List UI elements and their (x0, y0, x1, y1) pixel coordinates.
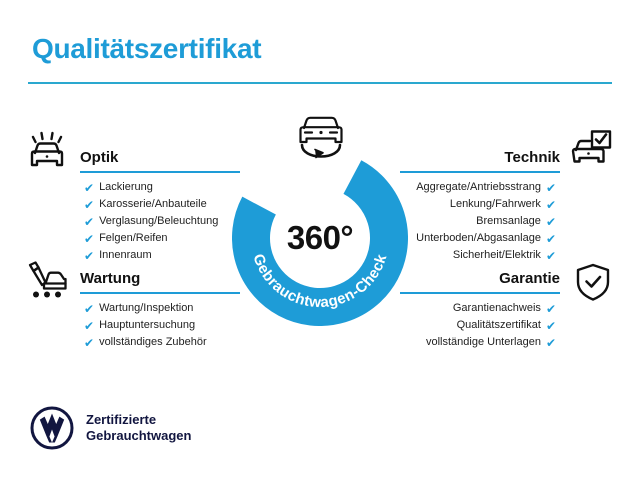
list-item-label: Sicherheit/Elektrik (453, 247, 541, 264)
check-icon: ✔ (84, 233, 94, 245)
list-item: ✔Innenraum (84, 247, 240, 264)
section-wartung-underline (80, 292, 240, 294)
list-item-label: Innenraum (99, 247, 152, 264)
list-item: Aggregate/Antriebsstrang✔ (400, 179, 556, 196)
list-item: ✔Felgen/Reifen (84, 230, 240, 247)
section-garantie: Garantie Garantienachweis✔ Qualitätszert… (400, 264, 560, 351)
check-icon: ✔ (546, 303, 556, 315)
list-item-label: Karosserie/Anbauteile (99, 196, 207, 213)
list-item-label: Lackierung (99, 179, 153, 196)
list-item: ✔Wartung/Inspektion (84, 300, 240, 317)
list-item: ✔Hauptuntersuchung (84, 317, 240, 334)
section-garantie-title: Garantie (499, 270, 560, 287)
section-technik-underline (400, 171, 560, 173)
list-item: Garantienachweis✔ (400, 300, 556, 317)
section-garantie-underline (400, 292, 560, 294)
section-technik-header: Technik (400, 143, 560, 173)
list-item-label: Wartung/Inspektion (99, 300, 193, 317)
car-checkbox-icon (568, 128, 614, 172)
section-garantie-list: Garantienachweis✔ Qualitätszertifikat✔ v… (400, 300, 560, 351)
section-optik-title: Optik (80, 149, 118, 166)
list-item: Qualitätszertifikat✔ (400, 317, 556, 334)
section-technik-list: Aggregate/Antriebsstrang✔ Lenkung/Fahrwe… (400, 179, 560, 264)
page-title: Qualitätszertifikat (32, 33, 261, 65)
check-icon: ✔ (546, 199, 556, 211)
footer-line-2: Gebrauchtwagen (86, 428, 191, 443)
section-wartung-list: ✔Wartung/Inspektion ✔Hauptuntersuchung ✔… (80, 300, 240, 351)
badge-ring: Gebrauchtwagen-Check (232, 150, 408, 326)
section-optik-list: ✔Lackierung ✔Karosserie/Anbauteile ✔Verg… (80, 179, 240, 264)
check-icon: ✔ (546, 216, 556, 228)
title-divider (28, 82, 612, 84)
wrench-car-icon (24, 258, 70, 302)
section-wartung-title: Wartung (80, 270, 140, 287)
footer-text: ZertifizierteGebrauchtwagen (86, 412, 191, 444)
list-item-label: Garantienachweis (453, 300, 541, 317)
check-icon: ✔ (546, 337, 556, 349)
list-item-label: Felgen/Reifen (99, 230, 168, 247)
vw-logo-icon (30, 406, 74, 450)
badge-360-check: Gebrauchtwagen-Check 360° (232, 150, 408, 326)
check-icon: ✔ (84, 216, 94, 228)
list-item: vollständige Unterlagen✔ (400, 334, 556, 351)
check-icon: ✔ (546, 182, 556, 194)
check-icon: ✔ (84, 182, 94, 194)
check-icon: ✔ (84, 250, 94, 262)
list-item: Bremsanlage✔ (400, 213, 556, 230)
check-icon: ✔ (84, 303, 94, 315)
section-optik-underline (80, 171, 240, 173)
check-icon: ✔ (84, 199, 94, 211)
list-item-label: Lenkung/Fahrwerk (450, 196, 541, 213)
list-item: Lenkung/Fahrwerk✔ (400, 196, 556, 213)
list-item-label: Bremsanlage (476, 213, 541, 230)
check-icon: ✔ (546, 250, 556, 262)
section-optik: Optik ✔Lackierung ✔Karosserie/Anbauteile… (80, 143, 240, 264)
list-item: ✔vollständiges Zubehör (84, 334, 240, 351)
section-technik-title: Technik (504, 149, 560, 166)
section-wartung: Wartung ✔Wartung/Inspektion ✔Hauptunters… (80, 264, 240, 351)
list-item-label: vollständiges Zubehör (99, 334, 207, 351)
footer-brand: ZertifizierteGebrauchtwagen (30, 406, 191, 450)
list-item: Sicherheit/Elektrik✔ (400, 247, 556, 264)
check-icon: ✔ (84, 337, 94, 349)
list-item-label: Unterboden/Abgasanlage (416, 230, 541, 247)
list-item-label: vollständige Unterlagen (426, 334, 541, 351)
rotating-car-icon (285, 112, 357, 164)
certificate-page: Qualitätszertifikat (0, 0, 640, 480)
footer-line-1: Zertifizierte (86, 412, 156, 427)
list-item-label: Hauptuntersuchung (99, 317, 195, 334)
section-technik: Technik Aggregate/Antriebsstrang✔ Lenkun… (400, 143, 560, 264)
check-icon: ✔ (84, 320, 94, 332)
list-item-label: Verglasung/Beleuchtung (99, 213, 218, 230)
section-garantie-header: Garantie (400, 264, 560, 294)
car-shine-icon (24, 128, 70, 172)
list-item: ✔Lackierung (84, 179, 240, 196)
list-item: ✔Verglasung/Beleuchtung (84, 213, 240, 230)
section-optik-header: Optik (80, 143, 240, 173)
check-icon: ✔ (546, 233, 556, 245)
check-icon: ✔ (546, 320, 556, 332)
list-item-label: Qualitätszertifikat (457, 317, 541, 334)
list-item: Unterboden/Abgasanlage✔ (400, 230, 556, 247)
shield-check-icon (570, 260, 616, 304)
list-item-label: Aggregate/Antriebsstrang (416, 179, 541, 196)
section-wartung-header: Wartung (80, 264, 240, 294)
list-item: ✔Karosserie/Anbauteile (84, 196, 240, 213)
